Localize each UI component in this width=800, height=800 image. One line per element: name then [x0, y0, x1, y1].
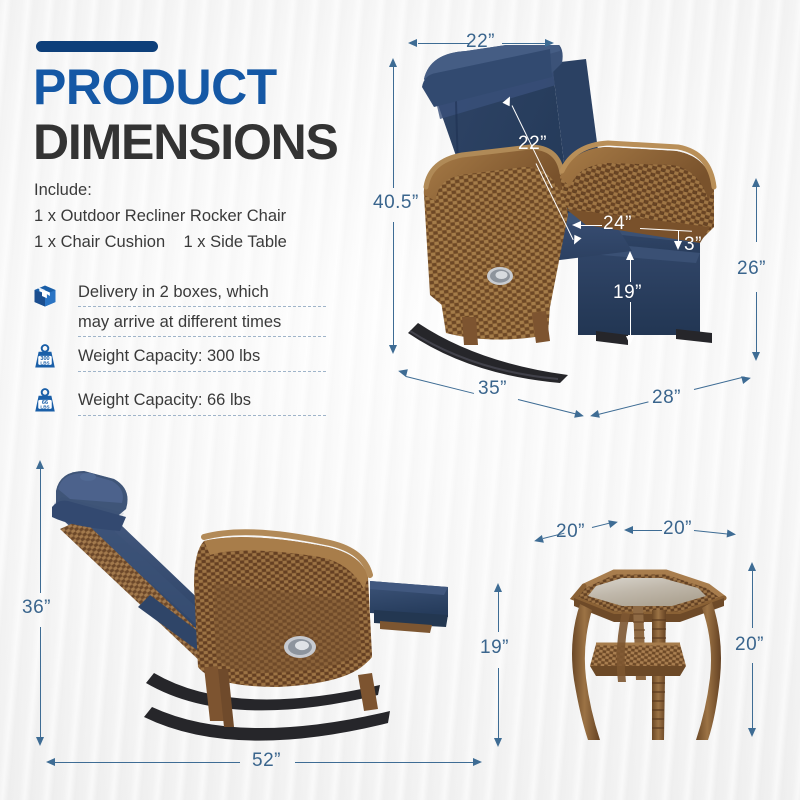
dim-label-side-chair-height: 36”: [22, 597, 51, 619]
dim-label-seat-depth: 24”: [603, 213, 632, 235]
dim-label-total-height: 40.5”: [373, 192, 419, 214]
package-box-icon: [30, 281, 60, 311]
feature-delivery-line1: Delivery in 2 boxes, which: [78, 283, 269, 302]
dim-label-base-right: 28”: [652, 387, 681, 409]
dim-label-side-chair-length: 52”: [252, 750, 281, 772]
product-dimensions-infographic: PRODUCT DIMENSIONS Include: 1 x Outdoor …: [0, 0, 800, 800]
svg-text:LBS: LBS: [40, 404, 49, 409]
dim-label-cushion-thickness: 3”: [684, 234, 702, 256]
dashed-rule: [78, 415, 326, 416]
dashed-rule: [78, 306, 326, 307]
feature-weight-66-text: Weight Capacity: 66 lbs: [78, 391, 251, 410]
dim-label-table-height: 20”: [735, 634, 764, 656]
wicker-side-table: [530, 540, 760, 770]
svg-text:LBS: LBS: [40, 360, 49, 365]
feature-delivery-line2: may arrive at different times: [78, 313, 281, 332]
include-label: Include:: [34, 181, 92, 200]
dim-label-seat-height: 19”: [613, 282, 642, 304]
header-accent-bar: [36, 41, 158, 52]
dim-label-backrest-height: 22”: [518, 133, 547, 155]
weight-66lbs-icon: 66 LBS: [30, 386, 60, 416]
page-title-line1: PRODUCT: [33, 61, 277, 113]
dim-label-footrest-height: 19”: [480, 637, 509, 659]
outdoor-recliner-rocker-chair-reclined-side-view: [28, 455, 478, 755]
dashed-rule: [78, 371, 326, 372]
include-item-2: 1 x Chair Cushion 1 x Side Table: [34, 233, 287, 252]
dashed-rule: [78, 336, 326, 337]
dim-label-table-width-right: 20”: [663, 518, 692, 540]
dim-label-side-height: 26”: [737, 258, 766, 280]
dim-label-top-width: 22”: [466, 31, 495, 53]
include-item-1: 1 x Outdoor Recliner Rocker Chair: [34, 207, 286, 226]
page-title-line2: DIMENSIONS: [33, 116, 338, 168]
feature-weight-300-text: Weight Capacity: 300 lbs: [78, 347, 260, 366]
weight-300lbs-icon: 300 LBS: [30, 342, 60, 372]
outdoor-recliner-rocker-chair-angled-view: [400, 45, 730, 385]
dim-label-base-left: 35”: [478, 378, 507, 400]
dim-label-table-width-left: 20”: [556, 521, 585, 543]
